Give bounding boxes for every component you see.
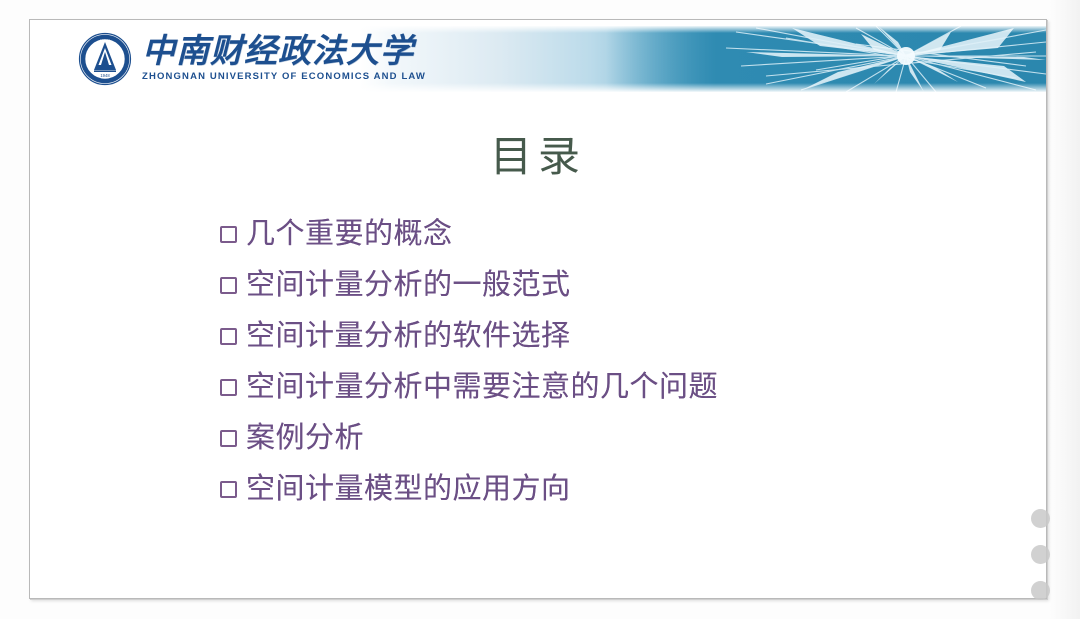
- hollow-square-bullet-icon: [220, 277, 237, 294]
- agenda-list: 几个重要的概念 空间计量分析的一般范式 空间计量分析的软件选择 空间计量分析中需…: [220, 208, 1000, 514]
- agenda-item[interactable]: 空间计量模型的应用方向: [220, 463, 1000, 514]
- university-name-en: ZHONGNAN UNIVERSITY OF ECONOMICS AND LAW: [142, 71, 426, 83]
- hollow-square-bullet-icon: [220, 328, 237, 345]
- university-name-cn: 中南财经政法大学: [142, 34, 426, 70]
- agenda-item-label: 空间计量分析中需要注意的几个问题: [246, 370, 718, 404]
- university-logo: 1948 · · · · · 中南财经政法大学 ZHONGNAN UNIVERS…: [78, 28, 426, 90]
- edge-dot-indicator: [1031, 545, 1050, 564]
- university-seal-icon: 1948 · · · · ·: [78, 32, 132, 86]
- agenda-item-label: 空间计量模型的应用方向: [246, 472, 571, 506]
- right-edge-shade: [1050, 0, 1080, 619]
- edge-dot-indicator: [1031, 509, 1050, 528]
- agenda-item[interactable]: 几个重要的概念: [220, 208, 1000, 259]
- agenda-item-label: 空间计量分析的软件选择: [246, 319, 571, 353]
- page-root: 1948 · · · · · 中南财经政法大学 ZHONGNAN UNIVERS…: [0, 0, 1080, 619]
- hollow-square-bullet-icon: [220, 226, 237, 243]
- agenda-item-label: 案例分析: [246, 421, 364, 455]
- agenda-item[interactable]: 案例分析: [220, 412, 1000, 463]
- agenda-item[interactable]: 空间计量分析的软件选择: [220, 310, 1000, 361]
- hollow-square-bullet-icon: [220, 379, 237, 396]
- agenda-item[interactable]: 空间计量分析中需要注意的几个问题: [220, 361, 1000, 412]
- slide-frame: 1948 · · · · · 中南财经政法大学 ZHONGNAN UNIVERS…: [29, 19, 1047, 599]
- agenda-item-label: 空间计量分析的一般范式: [246, 268, 571, 302]
- svg-text:· · · · ·: · · · · ·: [100, 38, 109, 42]
- hollow-square-bullet-icon: [220, 481, 237, 498]
- agenda-item[interactable]: 空间计量分析的一般范式: [220, 259, 1000, 310]
- slide-title: 目录: [30, 132, 1046, 184]
- svg-text:1948: 1948: [100, 73, 110, 78]
- agenda-item-label: 几个重要的概念: [246, 217, 453, 251]
- edge-dot-indicator: [1031, 581, 1050, 600]
- hollow-square-bullet-icon: [220, 430, 237, 447]
